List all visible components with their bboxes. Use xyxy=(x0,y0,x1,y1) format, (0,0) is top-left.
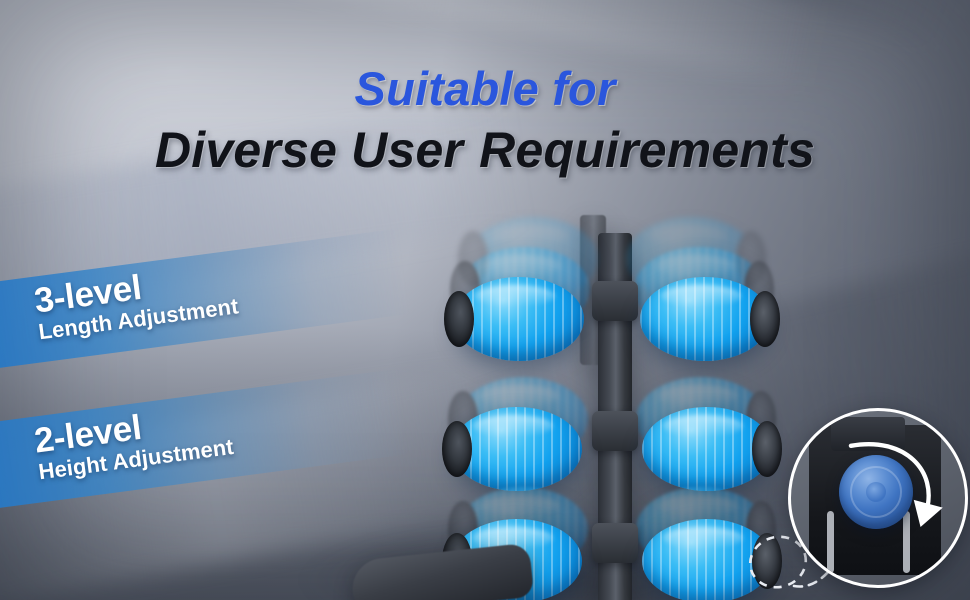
headline-accent-line: Suitable for xyxy=(0,64,970,114)
roller-left xyxy=(454,277,584,361)
roller-hub xyxy=(592,523,638,563)
roller-hub xyxy=(592,281,638,321)
headline-main-part-1: Diverse User xyxy=(155,122,463,178)
headline-main-part-2: Requirements xyxy=(479,122,815,178)
roller-hub xyxy=(592,411,638,451)
rotation-arrow-icon xyxy=(791,411,965,585)
roller-right xyxy=(640,277,770,361)
roller-end-cap xyxy=(750,291,780,347)
headline-main-line: Diverse UserRequirements xyxy=(0,124,970,177)
roller-end-cap xyxy=(442,421,472,477)
magnifier-circle xyxy=(788,408,968,588)
marketing-banner: Suitable for Diverse UserRequirements xyxy=(0,0,970,600)
roller-right xyxy=(642,407,772,491)
roller-left xyxy=(452,407,582,491)
roller-end-cap xyxy=(444,291,474,347)
roller-end-cap xyxy=(752,421,782,477)
headline-block: Suitable for Diverse UserRequirements xyxy=(0,64,970,177)
knob-zoom-callout xyxy=(788,408,968,588)
